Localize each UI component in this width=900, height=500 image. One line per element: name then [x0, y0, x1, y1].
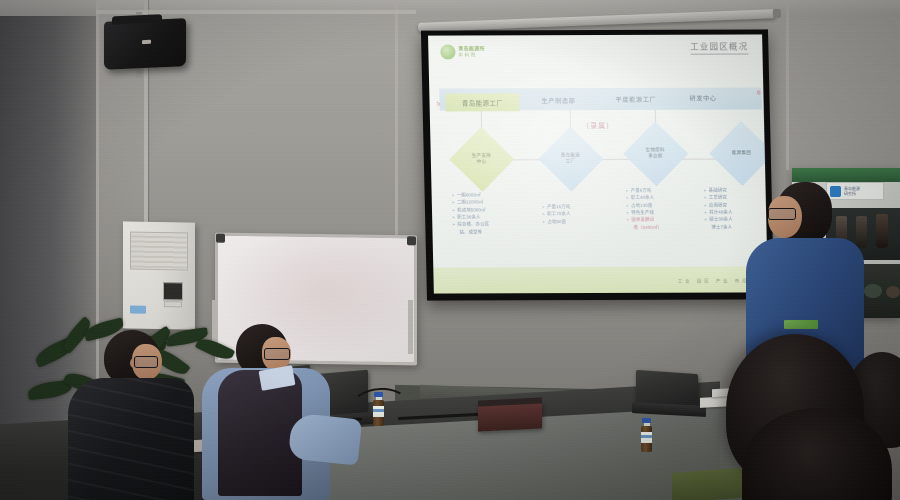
red-mark-right: 6: [757, 90, 760, 96]
bullet-item: 硕士38余人: [704, 216, 733, 223]
speaker-led: [142, 40, 151, 44]
bullet-item: 占地50亩: [542, 218, 571, 225]
screen-roller-cap: [773, 9, 781, 18]
glasses-icon: [264, 348, 290, 360]
slide-title: 工业园区概况: [690, 40, 749, 54]
sample-bottle: [876, 214, 888, 248]
bullet-item: 应用研究: [704, 201, 733, 208]
slide-subtitle: （录属）: [582, 121, 614, 131]
bullet-item: 基础研究: [704, 187, 733, 194]
ac-brand-badge: [130, 305, 146, 313]
bullet-item: 共计40余人: [704, 209, 733, 216]
wall-seam-right: [786, 0, 789, 170]
leaf-logo-icon: [440, 45, 455, 60]
wall-speaker-icon: [104, 18, 186, 70]
bullet-item: 产量15万吨: [542, 203, 571, 210]
cabinet-label-plate: 青岛能源研究所: [826, 182, 884, 200]
bullet-item: 工艺研究: [704, 194, 733, 201]
diamond-label-2: 生物原料事业部: [646, 148, 665, 160]
bullet-item: 综合楼、办公区: [452, 221, 489, 228]
bottle-label: [641, 432, 652, 443]
ceiling-conduit: [96, 10, 416, 14]
band-item-3: 研发中心: [689, 94, 716, 103]
bullet-item: 职工70余人: [542, 210, 571, 217]
ac-grille: [130, 231, 188, 270]
bullet-column-1: 产量15万吨 职工70余人 占地50亩: [542, 203, 571, 225]
tissue-box[interactable]: [478, 402, 542, 431]
diamond-label-3: 能源集团: [732, 150, 751, 156]
slide-logo-text: 青岛能源所 中 科 院: [458, 46, 485, 58]
bullet-item-sub: 博士7余人: [704, 223, 733, 230]
band-item-0: 青岛能源工厂: [445, 93, 519, 111]
uniform-logo-icon: [784, 320, 818, 329]
jacket-quilting: [68, 378, 194, 500]
diamond-label-1: 青岛能源工厂: [561, 153, 580, 165]
diamond-label-0: 生产支持中心: [472, 153, 491, 165]
projection-screen[interactable]: 青岛能源所 中 科 院 工业园区概况 生产制造部 平度能源工厂 研发中心 青岛能…: [421, 29, 774, 300]
ac-display-panel[interactable]: [163, 282, 183, 300]
band-item-1: 生产制造部: [541, 96, 575, 105]
glasses-icon: [134, 356, 158, 368]
vest: [218, 370, 302, 496]
diamond-node-3: 能源集团: [709, 121, 768, 186]
arm: [288, 412, 362, 465]
bullet-item: 一期6000㎡: [452, 191, 489, 198]
bullet-column-2: 产量5万吨 职工40余人 占地140亩 特色生产线 固体发酵间 增（6400㎡）: [626, 187, 663, 231]
bullet-item: 职工36余人: [452, 213, 489, 220]
slide-logo: 青岛能源所 中 科 院: [440, 44, 485, 59]
bullet-item: 固体发酵间: [626, 216, 662, 223]
sample-dish: [886, 286, 900, 298]
bullet-item: 特色生产线: [626, 209, 662, 216]
red-mark-left: 5: [437, 102, 440, 108]
cabinet-logo-icon: [830, 186, 841, 197]
sample-dish: [864, 284, 882, 298]
ac-button[interactable]: [164, 301, 182, 307]
whiteboard-leg: [408, 300, 413, 354]
whiteboard-corner: [216, 234, 225, 243]
bullet-item: 占地140亩: [626, 201, 662, 208]
bullet-item: 产量5万吨: [626, 187, 662, 194]
sample-bottle: [856, 216, 867, 248]
bullet-column-3: 基础研究 工艺研究 应用研究 共计40余人 硕士38余人 博士7余人: [704, 187, 733, 231]
cabinet-top-band: [792, 168, 900, 182]
green-folder[interactable]: [672, 467, 750, 500]
bullet-column-0: 一期6000㎡ 二期12000㎡ 机动地5000㎡ 职工36余人 综合楼、办公区…: [452, 191, 490, 235]
presentation-slide: 青岛能源所 中 科 院 工业园区概况 生产制造部 平度能源工厂 研发中心 青岛能…: [428, 34, 768, 293]
cabinet-label-text: 青岛能源研究所: [844, 186, 860, 196]
whiteboard-corner: [407, 236, 416, 245]
floor-air-conditioner: [123, 221, 195, 330]
conference-room-photo: 青岛能源所 中 科 院 工业园区概况 生产制造部 平度能源工厂 研发中心 青岛能…: [0, 0, 900, 500]
bullet-item: 职工40余人: [626, 194, 662, 201]
glasses-icon: [768, 208, 796, 220]
slide-footer-text: 工业 园区 产业 布局: [678, 278, 750, 284]
diamond-node-0: 生产支持中心: [449, 127, 514, 192]
water-bottle[interactable]: [641, 418, 652, 452]
diamond-node-1: 青岛能源工厂: [538, 127, 603, 192]
bullet-item: 机动地5000㎡: [452, 206, 489, 213]
diamond-node-2: 生物原料事业部: [623, 121, 688, 186]
band-item-2: 平度能源工厂: [615, 95, 656, 104]
bullet-item-sub: 增（6400㎡）: [626, 223, 662, 230]
bullet-item: 二期12000㎡: [452, 199, 489, 206]
bullet-item-sub: 站、成型等: [452, 228, 489, 235]
slide-logo-line2: 中 科 院: [458, 52, 475, 57]
